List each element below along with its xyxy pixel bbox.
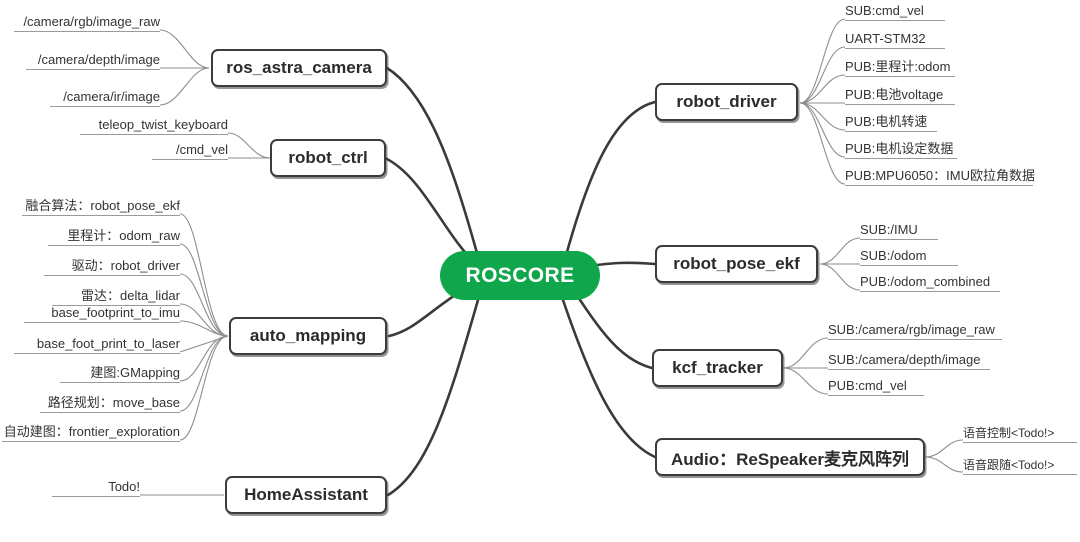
leaf-connector-driver-7 bbox=[800, 103, 845, 184]
leaf-label: SUB:/IMU bbox=[860, 223, 918, 236]
connector-root-ros-astra-camera bbox=[387, 68, 477, 253]
node-auto-mapping[interactable]: auto_mapping bbox=[229, 317, 387, 355]
leaf-label: 语音跟随<Todo!> bbox=[963, 459, 1054, 471]
leaf-home-1[interactable]: Todo! bbox=[52, 481, 140, 497]
leaf-connector-ctrl-1 bbox=[228, 133, 270, 158]
leaf-label: PUB:电机转速 bbox=[845, 115, 927, 128]
leaf-ekf-2[interactable]: SUB:/odom bbox=[860, 250, 958, 266]
leaf-connector-audio-1 bbox=[925, 440, 963, 457]
leaf-label: PUB:电机设定数据 bbox=[845, 142, 953, 155]
connector-root-robot-ctrl bbox=[385, 158, 470, 258]
leaf-map-1[interactable]: 融合算法：robot_pose_ekf bbox=[22, 200, 180, 216]
connector-root-robot-driver bbox=[567, 102, 655, 252]
leaf-kcf-1[interactable]: SUB:/camera/rgb/image_raw bbox=[828, 324, 1002, 340]
leaf-ekf-1[interactable]: SUB:/IMU bbox=[860, 224, 938, 240]
leaf-ctrl-2[interactable]: /cmd_vel bbox=[152, 144, 228, 160]
leaf-connector-map-1 bbox=[180, 214, 228, 336]
leaf-map-5[interactable]: base_footprint_to_imu bbox=[24, 307, 180, 323]
leaf-label: PUB:cmd_vel bbox=[828, 379, 907, 392]
leaf-map-9[interactable]: 自动建图：frontier_exploration bbox=[2, 426, 180, 442]
leaf-label: 里程计：odom_raw bbox=[67, 229, 180, 242]
leaf-label: SUB:/camera/rgb/image_raw bbox=[828, 323, 995, 336]
leaf-connector-audio-2 bbox=[925, 457, 963, 472]
leaf-map-7[interactable]: 建图:GMapping bbox=[60, 367, 180, 383]
leaf-label: 驱动：robot_driver bbox=[72, 259, 180, 272]
leaf-label: 自动建图：frontier_exploration bbox=[4, 425, 180, 438]
node-robot-ctrl[interactable]: robot_ctrl bbox=[270, 139, 386, 177]
root-node-roscore[interactable]: ROSCORE bbox=[440, 251, 600, 300]
leaf-connector-map-7 bbox=[180, 336, 228, 381]
leaf-connector-astra-1 bbox=[160, 30, 209, 68]
leaf-label: SUB:cmd_vel bbox=[845, 4, 924, 17]
leaf-map-6[interactable]: base_foot_print_to_laser bbox=[14, 338, 180, 354]
leaf-connector-kcf-3 bbox=[783, 368, 828, 394]
leaf-label: Todo! bbox=[108, 480, 140, 493]
leaf-connector-astra-3 bbox=[160, 68, 209, 105]
leaf-audio-1[interactable]: 语音控制<Todo!> bbox=[963, 427, 1077, 443]
leaf-label: teleop_twist_keyboard bbox=[99, 118, 228, 131]
leaf-driver-1[interactable]: SUB:cmd_vel bbox=[845, 5, 945, 21]
leaf-label: base_footprint_to_imu bbox=[51, 306, 180, 319]
node-label: kcf_tracker bbox=[672, 358, 763, 378]
leaf-label: PUB:MPU6050：IMU欧拉角数据 bbox=[845, 169, 1035, 182]
mindmap-canvas: ROSCORE ros_astra_camera robot_ctrl auto… bbox=[0, 0, 1080, 542]
leaf-kcf-2[interactable]: SUB:/camera/depth/image bbox=[828, 354, 990, 370]
leaf-label: /camera/ir/image bbox=[63, 90, 160, 103]
leaf-driver-4[interactable]: PUB:电池voltage bbox=[845, 89, 955, 105]
leaf-connector-ekf-1 bbox=[820, 238, 860, 264]
leaf-connector-driver-6 bbox=[800, 103, 845, 157]
leaf-label: PUB:里程计:odom bbox=[845, 60, 950, 73]
leaf-label: 雷达：delta_lidar bbox=[81, 289, 180, 302]
leaf-ekf-3[interactable]: PUB:/odom_combined bbox=[860, 276, 1000, 292]
node-label: robot_driver bbox=[676, 92, 776, 112]
leaf-label: SUB:/camera/depth/image bbox=[828, 353, 980, 366]
root-node-label: ROSCORE bbox=[466, 264, 575, 288]
node-ros-astra-camera[interactable]: ros_astra_camera bbox=[211, 49, 387, 87]
connector-root-audio bbox=[563, 300, 655, 457]
node-label: ros_astra_camera bbox=[226, 58, 372, 78]
leaf-label: base_foot_print_to_laser bbox=[37, 337, 180, 350]
leaf-connector-driver-2 bbox=[800, 47, 845, 103]
leaf-label: UART-STM32 bbox=[845, 32, 926, 45]
node-home-assistant[interactable]: HomeAssistant bbox=[225, 476, 387, 514]
leaf-label: 语音控制<Todo!> bbox=[963, 427, 1054, 439]
leaf-label: 融合算法：robot_pose_ekf bbox=[25, 199, 180, 212]
leaf-kcf-3[interactable]: PUB:cmd_vel bbox=[828, 380, 924, 396]
leaf-label: /cmd_vel bbox=[176, 143, 228, 156]
node-label: robot_ctrl bbox=[288, 148, 367, 168]
leaf-driver-7[interactable]: PUB:MPU6050：IMU欧拉角数据 bbox=[845, 170, 1033, 186]
node-label: HomeAssistant bbox=[244, 485, 368, 505]
leaf-label: 路径规划：move_base bbox=[48, 396, 180, 409]
node-kcf-tracker[interactable]: kcf_tracker bbox=[652, 349, 783, 387]
leaf-map-3[interactable]: 驱动：robot_driver bbox=[44, 260, 180, 276]
leaf-driver-2[interactable]: UART-STM32 bbox=[845, 33, 945, 49]
leaf-connector-map-8 bbox=[180, 336, 228, 411]
leaf-astra-1[interactable]: /camera/rgb/image_raw bbox=[14, 16, 160, 32]
leaf-astra-2[interactable]: /camera/depth/image bbox=[26, 54, 160, 70]
node-robot-pose-ekf[interactable]: robot_pose_ekf bbox=[655, 245, 818, 283]
leaf-label: SUB:/odom bbox=[860, 249, 926, 262]
node-robot-driver[interactable]: robot_driver bbox=[655, 83, 798, 121]
leaf-connector-kcf-1 bbox=[783, 338, 828, 368]
leaf-map-4[interactable]: 雷达：delta_lidar bbox=[52, 290, 180, 306]
leaf-label: PUB:电池voltage bbox=[845, 88, 943, 101]
leaf-label: PUB:/odom_combined bbox=[860, 275, 990, 288]
leaf-map-2[interactable]: 里程计：odom_raw bbox=[48, 230, 180, 246]
leaf-label: /camera/depth/image bbox=[38, 53, 160, 66]
leaf-driver-5[interactable]: PUB:电机转速 bbox=[845, 116, 937, 132]
leaf-astra-3[interactable]: /camera/ir/image bbox=[50, 91, 160, 107]
leaf-label: /camera/rgb/image_raw bbox=[23, 15, 160, 28]
leaf-connector-ekf-3 bbox=[820, 264, 860, 290]
leaf-connector-map-9 bbox=[180, 336, 228, 440]
node-label: auto_mapping bbox=[250, 326, 366, 346]
node-label: robot_pose_ekf bbox=[673, 254, 800, 274]
leaf-ctrl-1[interactable]: teleop_twist_keyboard bbox=[80, 119, 228, 135]
connector-root-home-assistant bbox=[388, 300, 478, 495]
node-audio-respeaker[interactable]: Audio：ReSpeaker麦克风阵列 bbox=[655, 438, 925, 476]
leaf-audio-2[interactable]: 语音跟随<Todo!> bbox=[963, 459, 1077, 475]
leaf-label: 建图:GMapping bbox=[90, 366, 180, 379]
leaf-driver-3[interactable]: PUB:里程计:odom bbox=[845, 61, 955, 77]
leaf-connector-driver-1 bbox=[800, 19, 845, 103]
leaf-driver-6[interactable]: PUB:电机设定数据 bbox=[845, 143, 957, 159]
leaf-map-8[interactable]: 路径规划：move_base bbox=[40, 397, 180, 413]
node-label: Audio：ReSpeaker麦克风阵列 bbox=[671, 445, 909, 470]
